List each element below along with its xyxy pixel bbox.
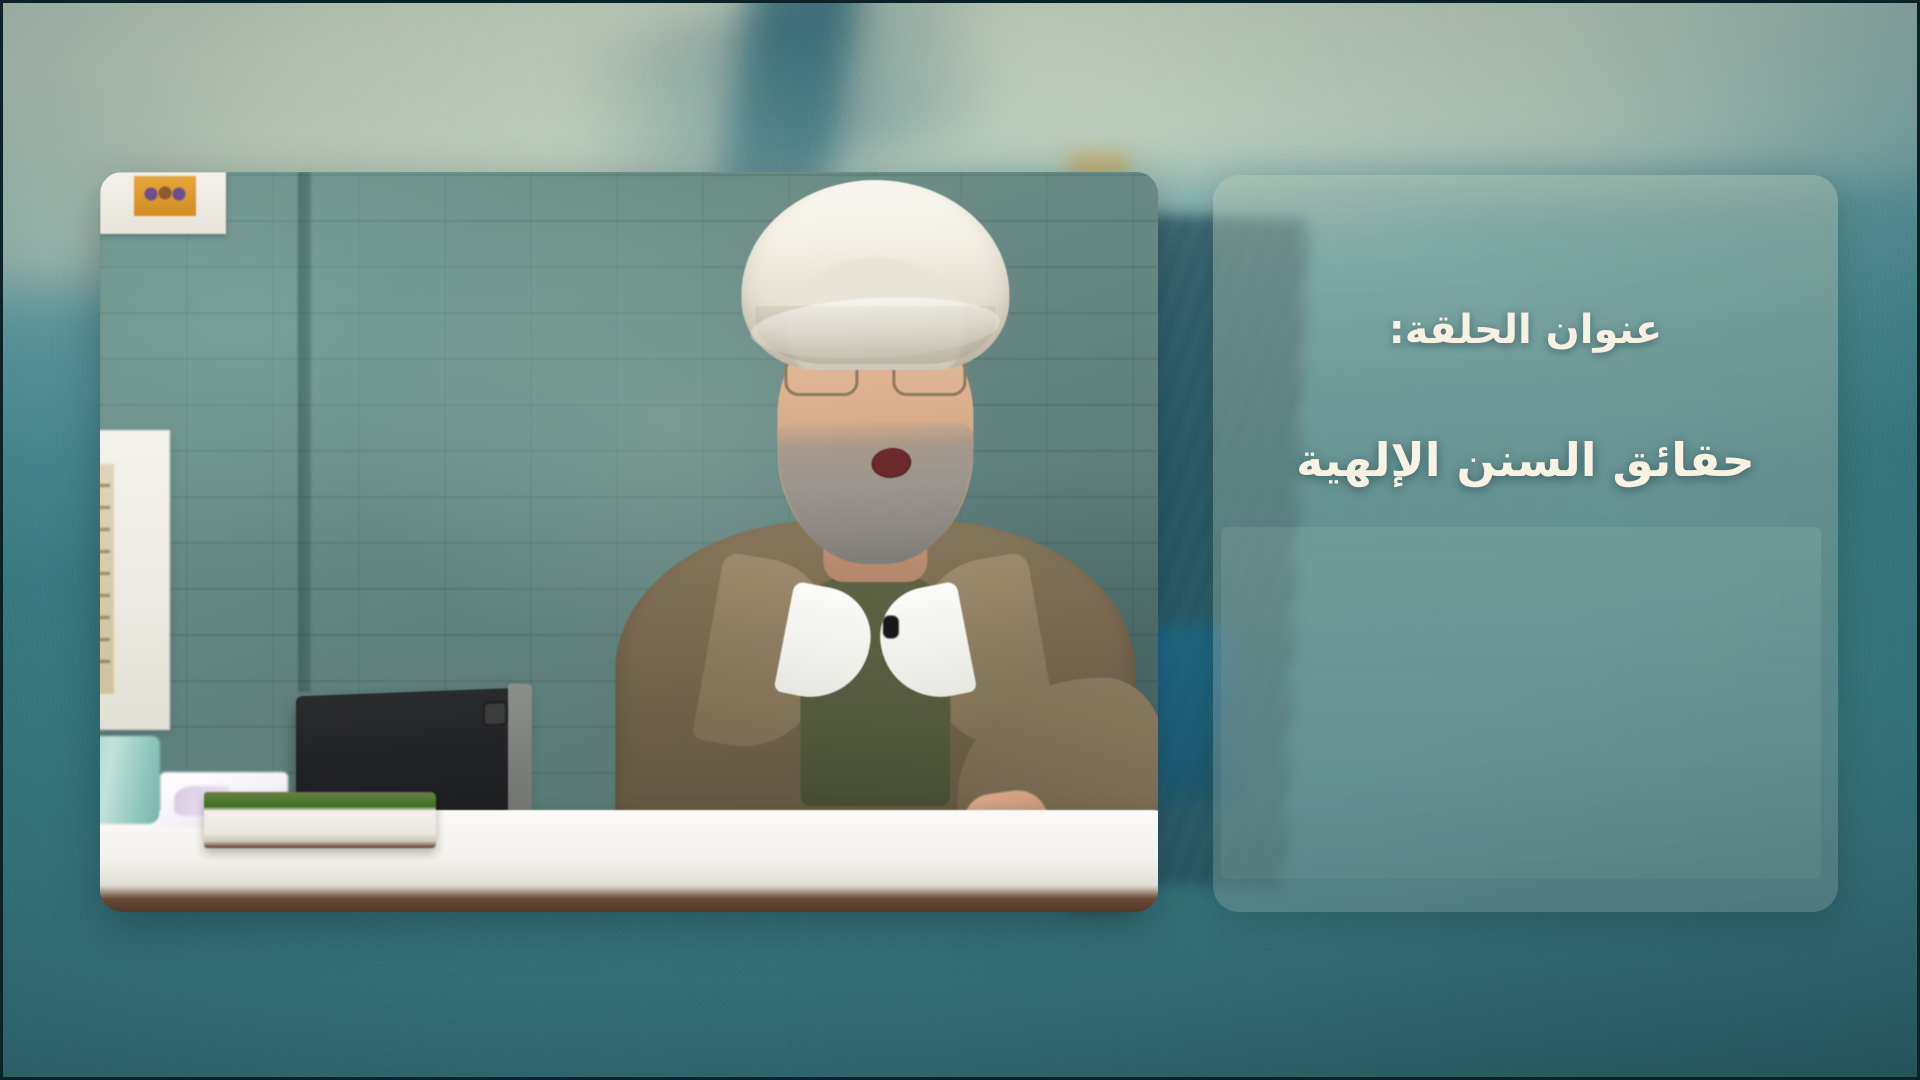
wall-poster-frame [100,430,170,730]
speaker-figure [595,250,1155,850]
episode-title-content: عنوان الحلقة: حقائق السنن الإلهية [1213,175,1838,912]
episode-title: حقائق السنن الإلهية [1296,429,1755,491]
lapel-microphone-icon [883,616,898,638]
desk-book [204,792,436,848]
wall-picture-frame-gold [100,172,226,234]
speaker-video-panel[interactable] [100,172,1158,912]
studio-wall-pillar [298,172,311,692]
episode-title-panel: عنوان الحلقة: حقائق السنن الإلهية [1213,175,1838,912]
gold-artwork [134,176,196,216]
slide-stage: عنوان الحلقة: حقائق السنن الإلهية [0,0,1920,1080]
desk-mug [100,736,160,824]
tablet-camera-icon [482,700,508,727]
episode-label: عنوان الحلقة: [1389,303,1662,357]
